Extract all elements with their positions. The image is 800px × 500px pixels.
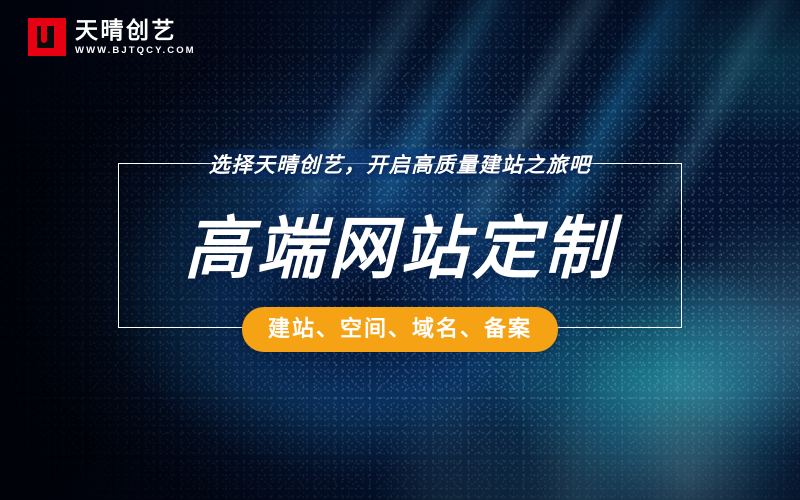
services-pill-button[interactable]: 建站、空间、域名、备案	[242, 307, 558, 352]
promo-banner: 天晴创艺 WWW.BJTQCY.COM 选择天晴创艺，开启高质量建站之旅吧 高端…	[0, 0, 800, 500]
logo-website-url: WWW.BJTQCY.COM	[75, 46, 196, 56]
services-pill-row: 建站、空间、域名、备案	[0, 308, 800, 350]
logo-company-name: 天晴创艺	[75, 18, 196, 42]
brand-logo[interactable]: 天晴创艺 WWW.BJTQCY.COM	[28, 18, 196, 56]
headline-row: 高端网站定制	[0, 206, 800, 292]
tagline-text: 选择天晴创艺，开启高质量建站之旅吧	[196, 149, 605, 179]
headline-text: 高端网站定制	[184, 215, 616, 283]
logo-mark-icon	[28, 18, 66, 56]
tagline-row: 选择天晴创艺，开启高质量建站之旅吧	[0, 149, 800, 179]
logo-text-block: 天晴创艺 WWW.BJTQCY.COM	[75, 18, 196, 56]
